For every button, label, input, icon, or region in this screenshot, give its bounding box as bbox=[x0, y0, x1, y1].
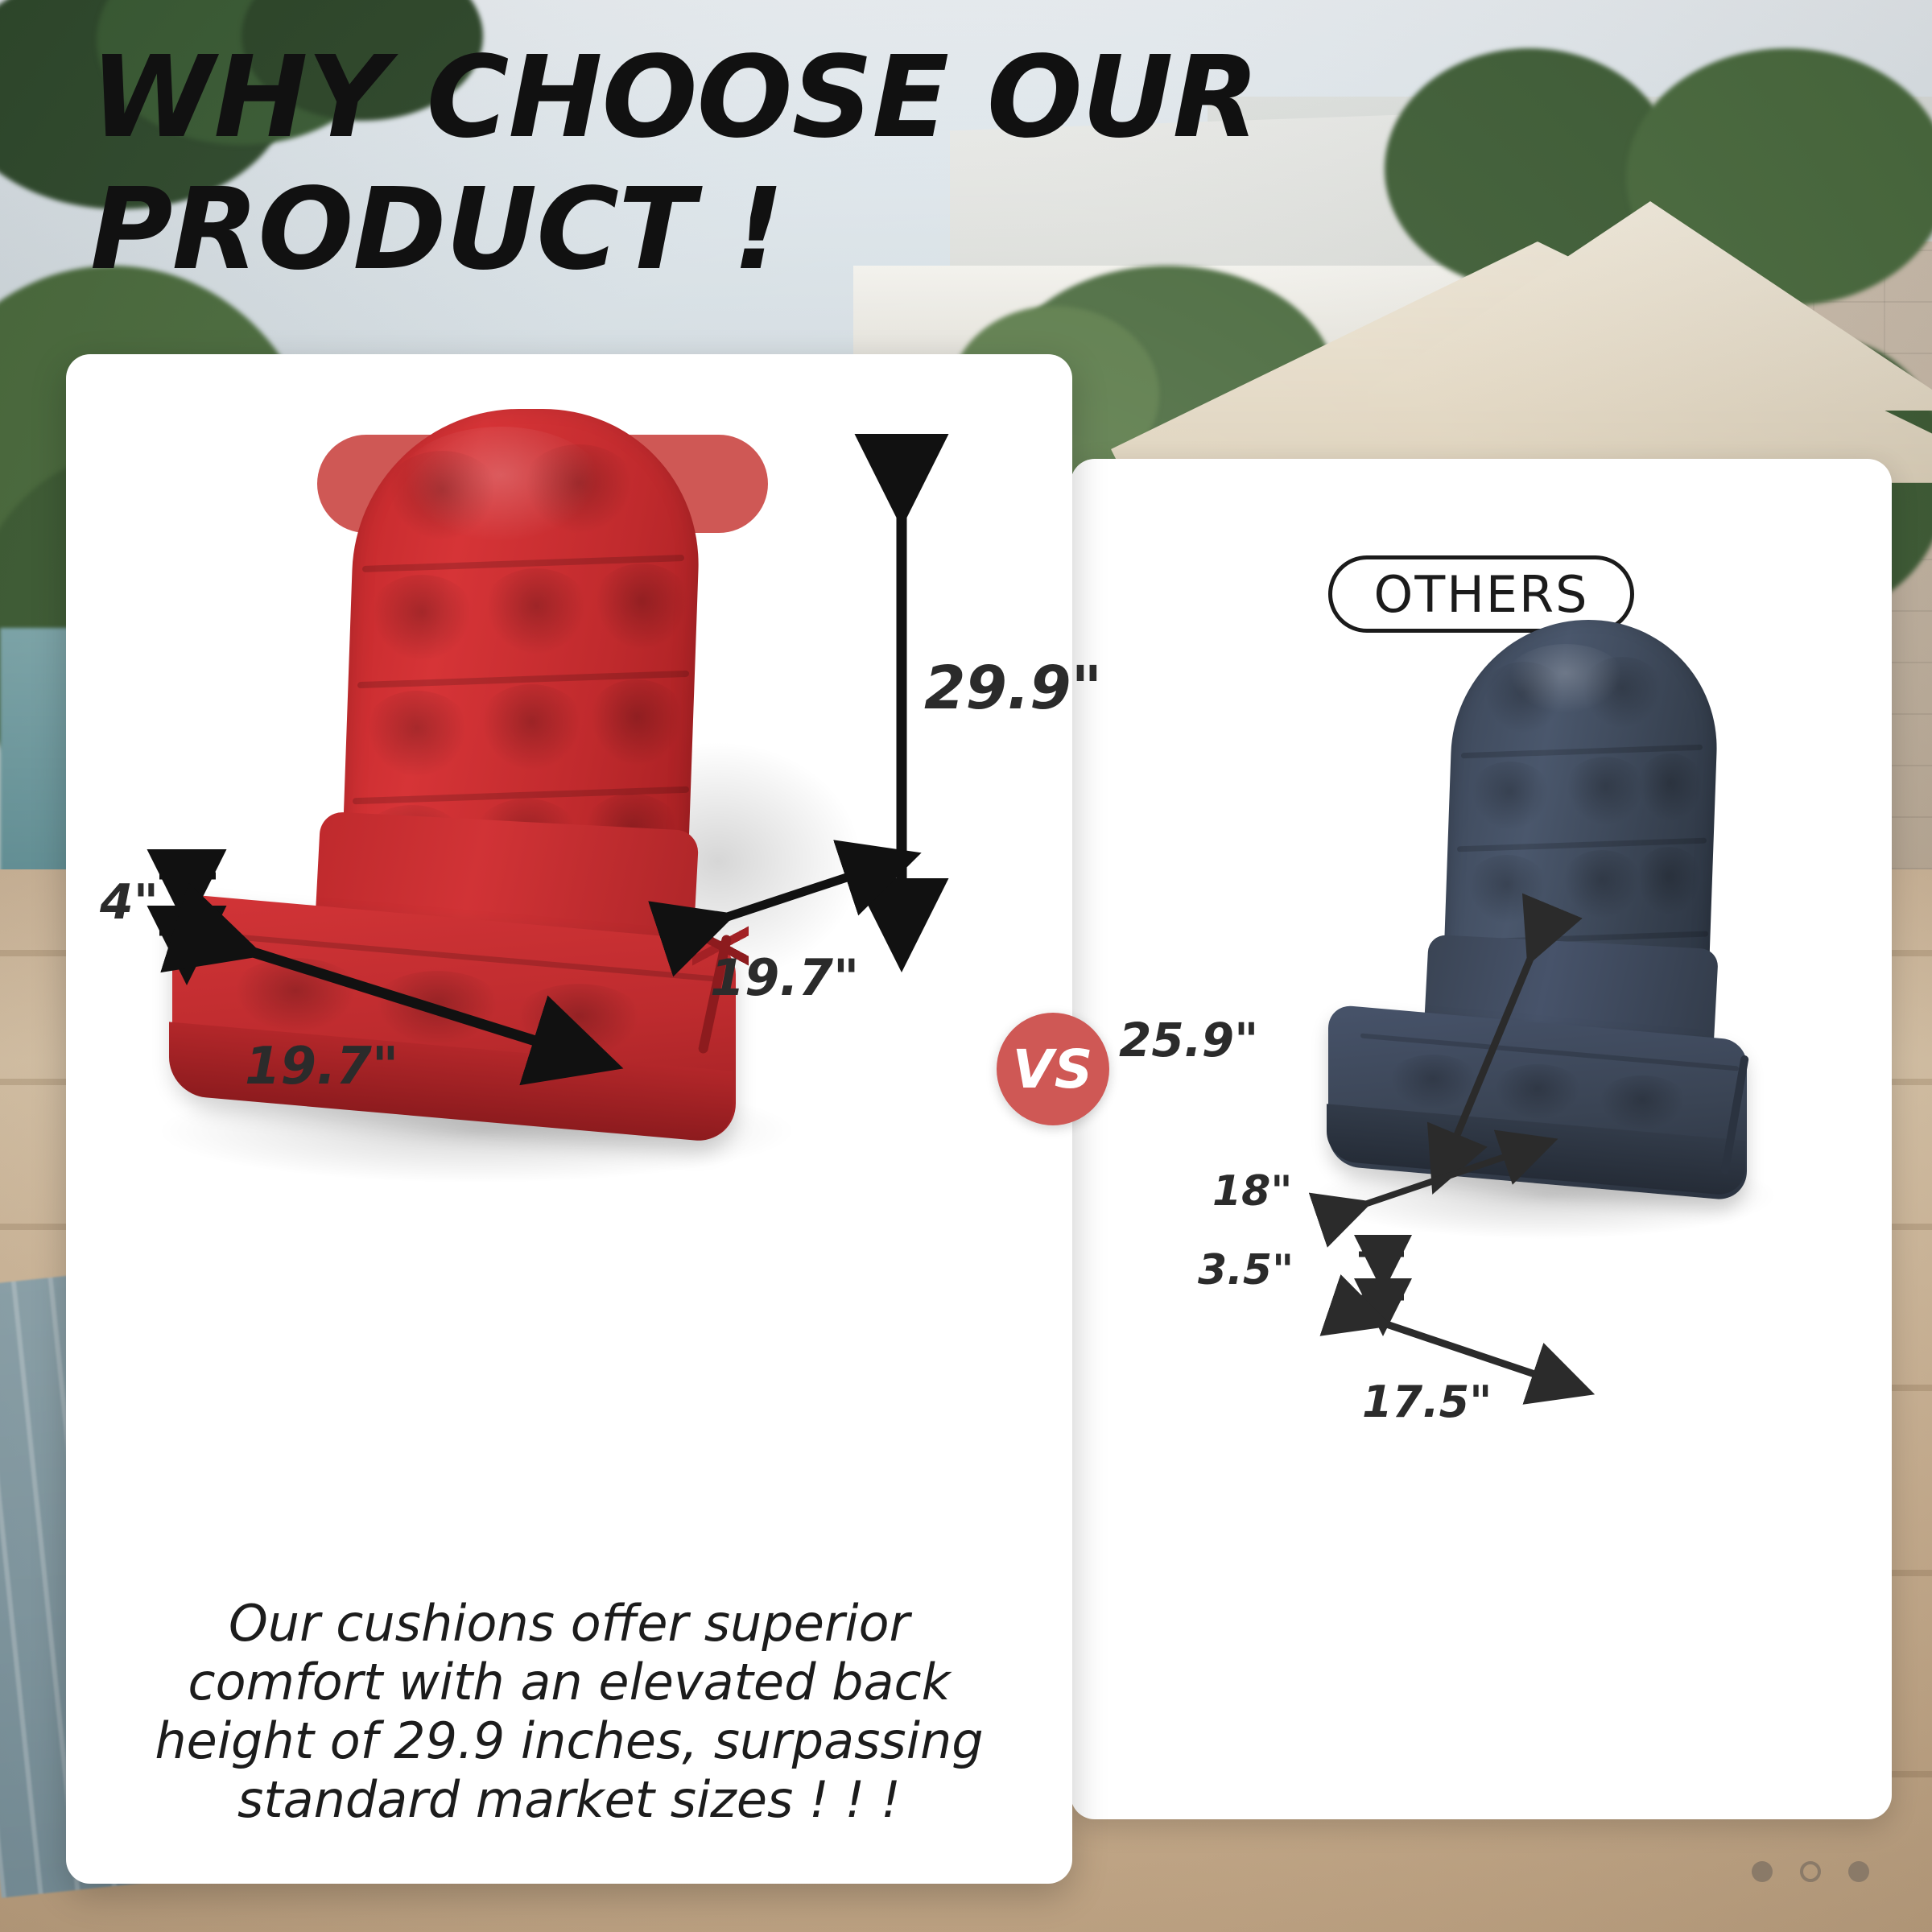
ours-dim-seat-depth: 19.7" bbox=[710, 948, 859, 1007]
carousel-dot-2[interactable] bbox=[1800, 1861, 1821, 1882]
page-title: WHY CHOOSE OUR PRODUCT ! bbox=[90, 42, 1459, 287]
vs-label: VS bbox=[1013, 1038, 1094, 1100]
others-comparison-card: OTHERS bbox=[1071, 459, 1892, 1819]
caption-line-3: height of 29.9 inches, surpassing bbox=[122, 1711, 1016, 1770]
caption-line-1: Our cushions offer superior bbox=[122, 1594, 1016, 1653]
ours-dim-seat-thickness: 4" bbox=[100, 874, 159, 931]
carousel-dot-3[interactable] bbox=[1848, 1861, 1869, 1882]
carousel-dots[interactable] bbox=[1752, 1861, 1869, 1882]
caption-line-2: comfort with an elevated back bbox=[122, 1653, 1016, 1711]
ours-dim-back-height: 29.9" bbox=[924, 654, 1102, 723]
others-dim-seat-width: 17.5" bbox=[1362, 1377, 1492, 1427]
vs-badge: VS bbox=[997, 1013, 1109, 1125]
ours-dim-seat-width: 19.7" bbox=[245, 1037, 398, 1096]
others-dimension-arrows bbox=[1071, 459, 1892, 1819]
ours-comparison-card: OURS bbox=[66, 354, 1072, 1884]
others-dim-seat-thickness: 3.5" bbox=[1198, 1246, 1294, 1294]
caption-line-4: standard market sizes ! ! ! bbox=[122, 1770, 1016, 1829]
carousel-dot-1[interactable] bbox=[1752, 1861, 1773, 1882]
ours-caption: Our cushions offer superior comfort with… bbox=[122, 1594, 1016, 1830]
others-dim-seat-depth: 18" bbox=[1212, 1167, 1292, 1216]
title-line-2: PRODUCT ! bbox=[90, 174, 1459, 287]
others-dim-back-height: 25.9" bbox=[1119, 1013, 1258, 1067]
title-line-1: WHY CHOOSE OUR bbox=[90, 42, 1459, 155]
